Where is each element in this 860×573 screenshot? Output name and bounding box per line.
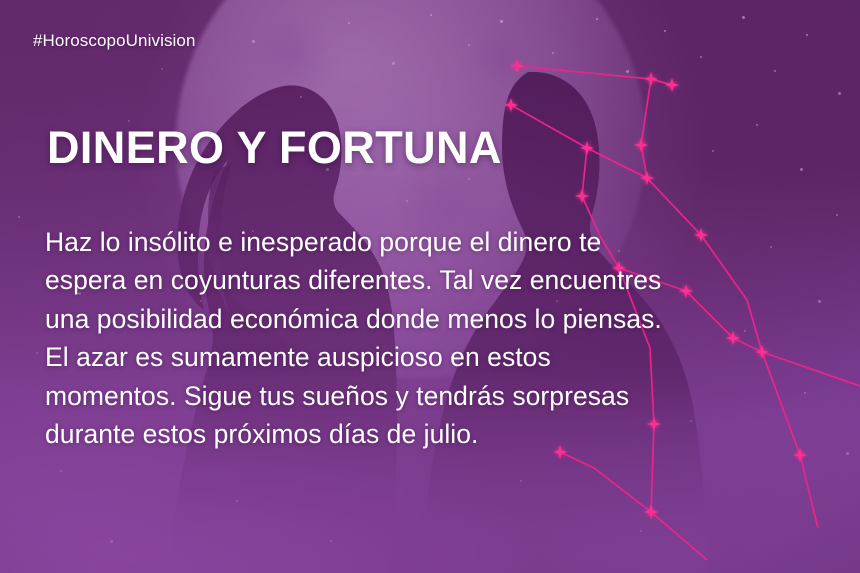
hashtag-label: #HoroscopoUnivision	[33, 31, 196, 51]
horoscope-body-text: Haz lo insólito e inesperado porque el d…	[45, 223, 840, 454]
card-content: #HoroscopoUnivision DINERO Y FORTUNA Haz…	[0, 0, 860, 573]
horoscope-card: #HoroscopoUnivision DINERO Y FORTUNA Haz…	[0, 0, 860, 573]
page-title: DINERO Y FORTUNA	[47, 125, 502, 171]
